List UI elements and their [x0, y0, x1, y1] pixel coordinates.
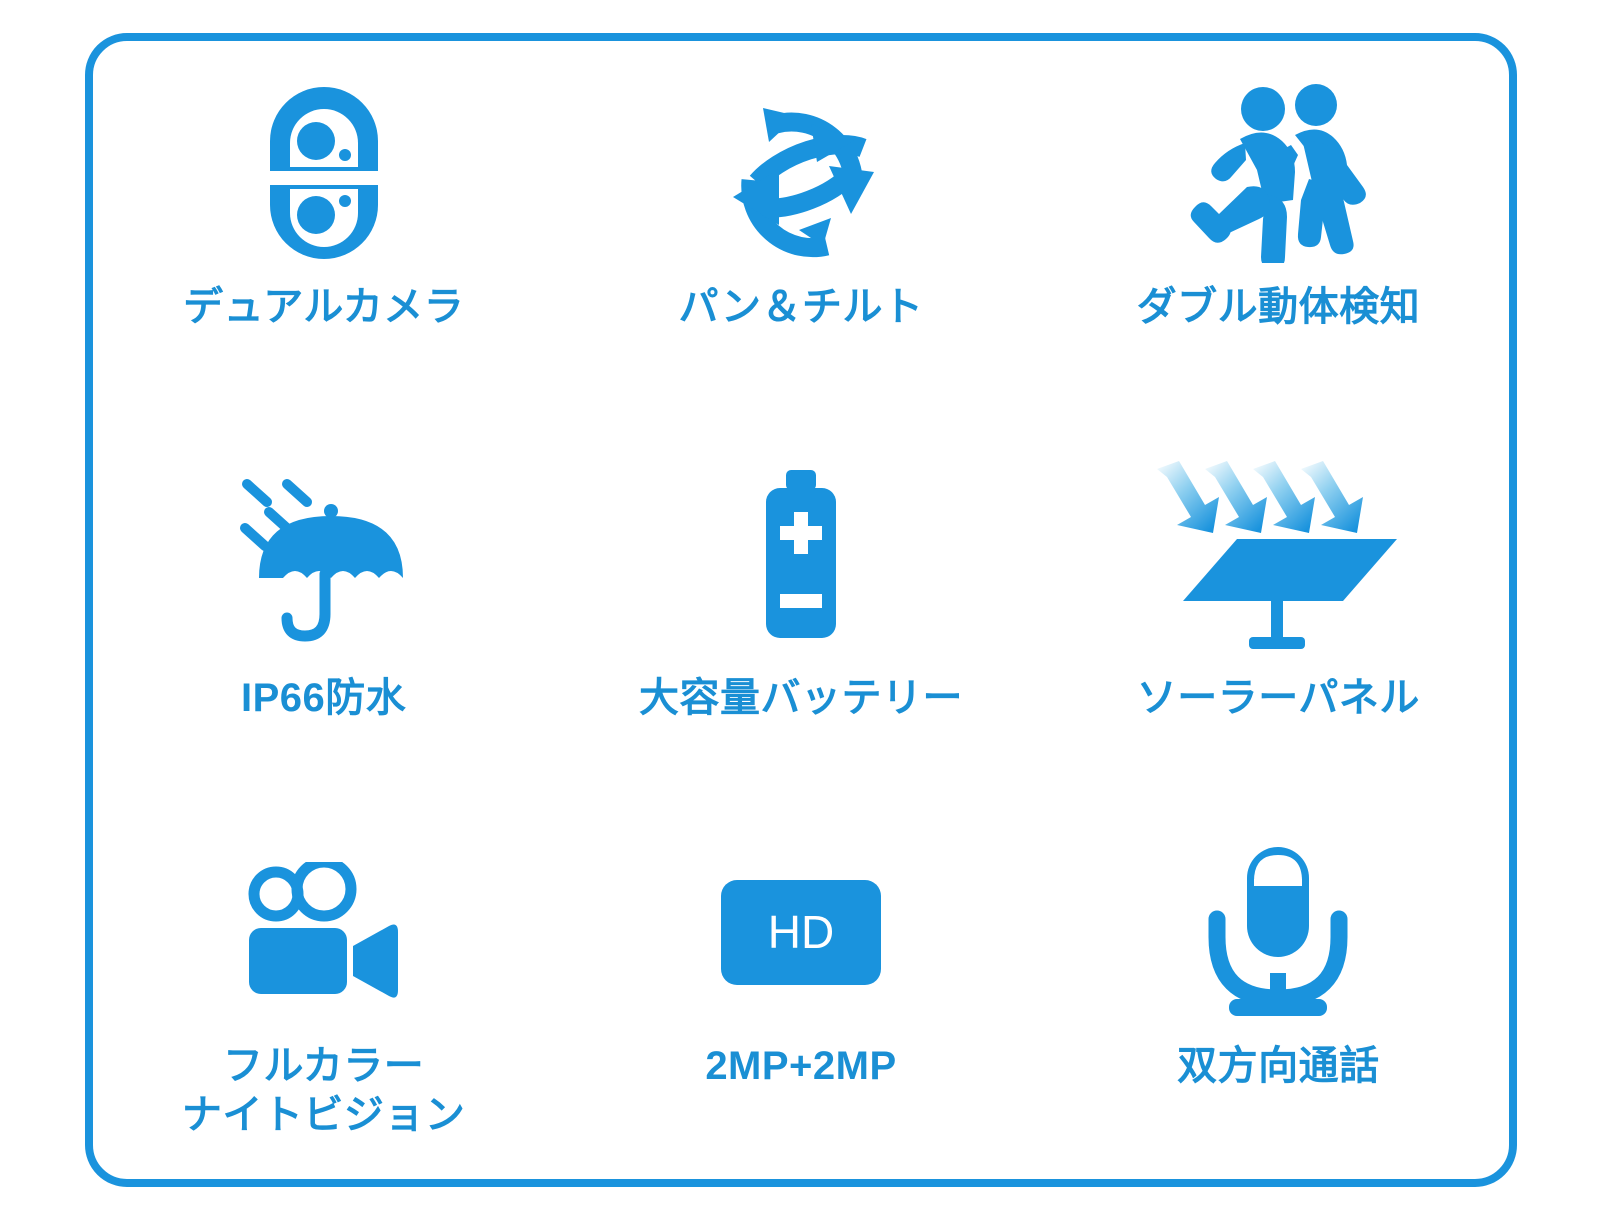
- feature-label: 大容量バッテリー: [639, 674, 963, 723]
- feature-label: デュアルカメラ: [183, 283, 464, 332]
- battery-icon: [736, 418, 866, 656]
- two-running-people-icon: [1183, 33, 1373, 273]
- feature-label: IP66防水: [241, 674, 406, 723]
- pan-tilt-rotation-icon: [711, 33, 891, 273]
- feature-label: 2MP+2MP: [705, 1042, 896, 1091]
- feature-label: ダブル動体検知: [1137, 283, 1421, 332]
- feature-item-dual-camera: デュアルカメラ: [85, 33, 562, 418]
- feature-label: ソーラーパネル: [1137, 674, 1420, 723]
- feature-panel: デュアルカメラ: [0, 0, 1600, 1224]
- feature-label: 双方向通話: [1177, 1042, 1380, 1091]
- solar-panel-icon: [1153, 418, 1403, 656]
- microphone-icon: [1203, 802, 1353, 1032]
- feature-label: フルカラー ナイトビジョン: [182, 1042, 466, 1140]
- dual-camera-icon: [264, 33, 384, 273]
- feature-item-resolution: HD 2MP+2MP: [562, 802, 1039, 1187]
- feature-grid: デュアルカメラ: [85, 33, 1517, 1187]
- hd-badge-icon: HD: [721, 802, 881, 1032]
- feature-item-full-color-night-vision: フルカラー ナイトビジョン: [85, 802, 562, 1187]
- feature-item-large-battery: 大容量バッテリー: [562, 418, 1039, 803]
- feature-item-solar-panel: ソーラーパネル: [1040, 418, 1517, 803]
- feature-item-double-motion-detection: ダブル動体検知: [1040, 33, 1517, 418]
- feature-label: パン＆チルト: [678, 283, 923, 332]
- umbrella-rain-icon: [229, 418, 419, 656]
- video-camera-icon: [241, 802, 406, 1032]
- feature-item-pan-tilt: パン＆チルト: [562, 33, 1039, 418]
- hd-badge-text: HD: [768, 906, 834, 958]
- feature-item-two-way-talk: 双方向通話: [1040, 802, 1517, 1187]
- feature-item-ip66-waterproof: IP66防水: [85, 418, 562, 803]
